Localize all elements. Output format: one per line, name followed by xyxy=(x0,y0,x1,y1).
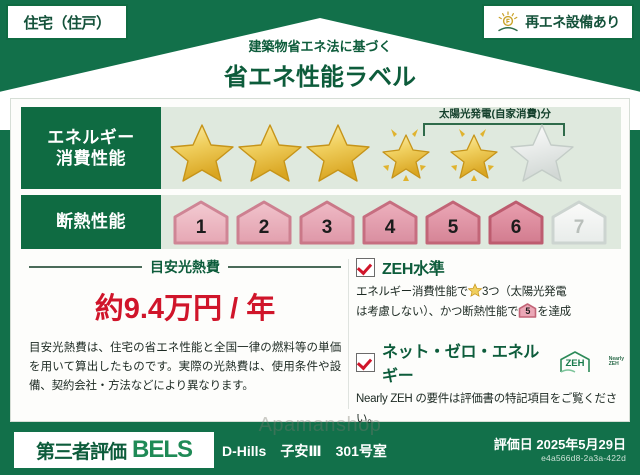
energy-performance-label-box: エネルギー 消費性能 xyxy=(21,107,161,189)
zeh-level-title: ZEH水準 xyxy=(382,255,445,279)
net-zero-checkbox-icon xyxy=(356,353,375,372)
housing-type-badge: 住宅（住戸） xyxy=(6,4,128,40)
heading-rule-right xyxy=(228,266,341,268)
insulation-level-scale: 1 2 xyxy=(171,199,609,245)
title-main: 省エネ性能ラベル xyxy=(0,57,640,92)
zeh-level-row: ZEH水準 xyxy=(356,255,624,279)
insulation-level-1: 1 xyxy=(171,199,231,245)
energy-label-line1: エネルギー xyxy=(47,127,135,148)
insulation-level-2: 2 xyxy=(234,199,294,245)
energy-label-line2: 消費性能 xyxy=(56,148,126,169)
star-filled-1 xyxy=(169,121,235,184)
insulation-level-7-number: 7 xyxy=(574,217,585,239)
insulation-level-7: 7 xyxy=(549,199,609,245)
zeh-section: ZEH水準 エネルギー消費性能で3つ（太陽光発電 は考慮しない）、かつ断熱性能で… xyxy=(356,255,624,429)
evaluation-id: e4a566d8-2a3a-422d xyxy=(541,453,626,463)
mini-star-icon xyxy=(468,283,482,297)
utility-cost-value: 約9.4万円 / 年 xyxy=(29,285,341,327)
star-filled-2 xyxy=(237,121,303,184)
zeh-level-description: エネルギー消費性能で3つ（太陽光発電 は考慮しない）、かつ断熱性能で5を達成 xyxy=(356,283,624,322)
zeh-logo-tagline: Nearly ZEH xyxy=(609,357,624,368)
star-empty-6 xyxy=(509,121,575,184)
bels-logo-jp: 第三者評価 xyxy=(36,437,126,464)
insulation-level-3: 3 xyxy=(297,199,357,245)
zeh-desc-part1: エネルギー消費性能で xyxy=(356,286,468,298)
svg-text:ZEH: ZEH xyxy=(565,358,584,369)
insulation-level-4-number: 4 xyxy=(385,217,396,239)
bels-logo-en: BELS xyxy=(132,436,192,464)
insulation-level-5-number: 5 xyxy=(448,217,459,239)
utility-cost-heading-text: 目安光熱費 xyxy=(150,257,220,277)
evaluation-date: 評価日 2025年5月29日 xyxy=(494,434,626,453)
insulation-level-6: 6 xyxy=(486,199,546,245)
insulation-performance-row: 断熱性能 1 xyxy=(21,195,621,249)
utility-cost-note: 目安光熱費は、住宅の省エネ性能と全国一律の燃料等の単価を用いて算出したものです。… xyxy=(29,339,341,396)
label-footer: 第三者評価 BELS D-Hills 子安Ⅲ 301号室 評価日 2025年5月… xyxy=(0,426,640,475)
insulation-level-5: 5 xyxy=(423,199,483,245)
mini-house-level-number: 5 xyxy=(518,304,537,319)
housing-type-label: 住宅（住戸） xyxy=(23,12,110,33)
energy-performance-row: エネルギー 消費性能 太陽光発電(自家消費)分 xyxy=(21,107,621,189)
insulation-level-6-number: 6 xyxy=(511,217,522,239)
insulation-level-3-number: 3 xyxy=(322,217,333,239)
solar-sun-icon xyxy=(496,11,520,33)
zeh-house-logo-icon: ZEH xyxy=(558,350,602,374)
vertical-divider xyxy=(348,259,349,409)
energy-performance-label: 住宅（住戸） 再エネ設備あり 建築物省エネ法に基づく 省エネ性能ラベル xyxy=(0,0,640,475)
zeh-desc-part2: は考慮しない）、かつ断熱性能で xyxy=(356,306,518,318)
renewable-equipment-badge: 再エネ設備あり xyxy=(482,4,634,40)
star-rating xyxy=(169,121,575,184)
mini-house-level-icon: 5 xyxy=(518,303,537,318)
insulation-label-box: 断熱性能 xyxy=(21,195,161,249)
title-subtitle: 建築物省エネ法に基づく xyxy=(0,36,640,55)
insulation-level-1-number: 1 xyxy=(196,217,207,239)
insulation-level-4: 4 xyxy=(360,199,420,245)
star-filled-solar-5 xyxy=(441,121,507,184)
zeh-level-checkbox-icon xyxy=(356,258,375,277)
property-address: D-Hills 子安Ⅲ 301号室 xyxy=(222,441,387,461)
zeh-tag-line2: ZEH xyxy=(609,361,619,367)
net-zero-row: ネット・ゼロ・エネルギー ZEH Nearly ZEH xyxy=(356,338,624,386)
zeh-desc-star-count: 3つ（太陽光発電 xyxy=(482,286,567,298)
zeh-desc-part3: を達成 xyxy=(537,306,571,318)
insulation-level-2-number: 2 xyxy=(259,217,270,239)
energy-stars-area: 太陽光発電(自家消費)分 xyxy=(161,107,621,189)
utility-cost-heading: 目安光熱費 xyxy=(29,257,341,277)
label-card: エネルギー 消費性能 太陽光発電(自家消費)分 xyxy=(10,98,630,422)
net-zero-title: ネット・ゼロ・エネルギー xyxy=(382,338,551,386)
insulation-label: 断熱性能 xyxy=(56,211,126,232)
insulation-levels-area: 1 2 xyxy=(161,195,621,249)
star-filled-solar-4 xyxy=(373,121,439,184)
heading-rule-left xyxy=(29,266,142,268)
bels-logo: 第三者評価 BELS xyxy=(14,432,214,468)
label-title: 建築物省エネ法に基づく 省エネ性能ラベル xyxy=(0,36,640,92)
renewable-equipment-label: 再エネ設備あり xyxy=(525,12,620,32)
star-filled-3 xyxy=(305,121,371,184)
net-zero-description: Nearly ZEH の要件は評価書の特記項目をご覧ください。 xyxy=(356,390,624,429)
utility-cost-section: 目安光熱費 約9.4万円 / 年 目安光熱費は、住宅の省エネ性能と全国一律の燃料… xyxy=(29,257,341,396)
solar-generation-caption: 太陽光発電(自家消費)分 xyxy=(415,106,575,121)
